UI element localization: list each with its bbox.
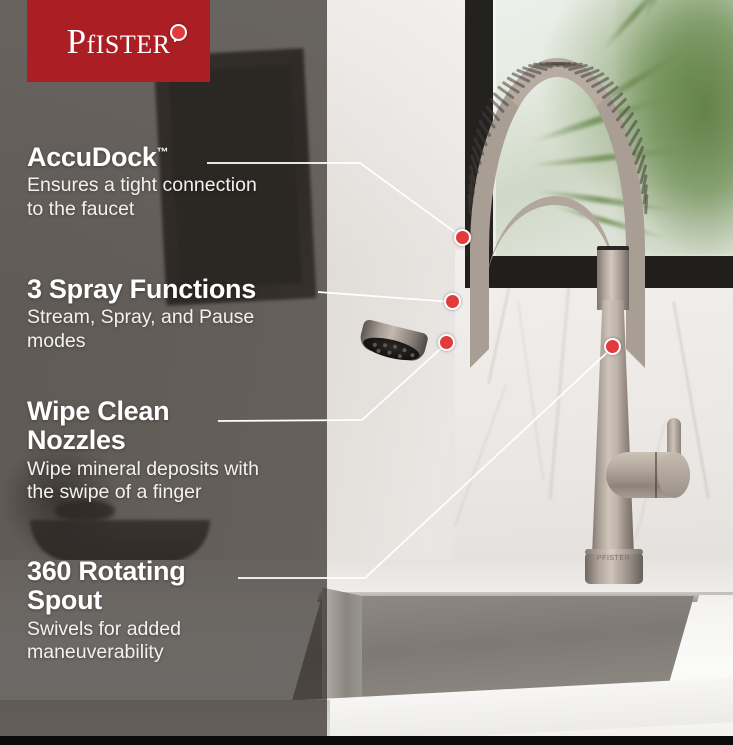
callout-subtitle: Swivels for added maneuverability	[27, 618, 317, 665]
spray-nozzle-hole	[397, 354, 402, 359]
callout-accudock: AccuDock™ Ensures a tight connection to …	[27, 143, 317, 221]
faucet-handle-cap	[658, 452, 690, 498]
bottom-letterbox-bar	[0, 736, 733, 745]
callout-title-text: 3 Spray Functions	[27, 274, 256, 304]
brand-logo-text: PfISTER.	[67, 24, 171, 59]
product-brand-etching: PFISTER	[597, 555, 623, 564]
callout-title: AccuDock™	[27, 143, 317, 172]
spray-nozzle-hole	[393, 344, 398, 349]
spray-nozzle-hole	[383, 343, 388, 348]
callout-title-text: 360 Rotating Spout	[27, 556, 185, 615]
callout-subtitle: Wipe mineral deposits with the swipe of …	[27, 458, 317, 505]
brand-logo: PfISTER.	[27, 0, 210, 82]
logo-letters-ister: ISTER	[96, 30, 171, 59]
logo-letter-p: P	[67, 22, 87, 61]
callout-title: 3 Spray Functions	[27, 275, 317, 304]
spray-nozzle-hole	[387, 350, 392, 355]
logo-letter-f: f	[87, 30, 96, 59]
callout-subtitle: Ensures a tight connection to the faucet	[27, 174, 317, 221]
callout-wipe-clean: Wipe Clean Nozzles Wipe mineral deposits…	[27, 397, 317, 505]
spray-nozzle-hole	[376, 348, 381, 353]
callout-dot-spray-functions[interactable]	[444, 293, 461, 310]
callout-dot-accudock[interactable]	[454, 229, 471, 246]
spray-wand	[359, 142, 473, 357]
spray-wand-body	[368, 144, 465, 350]
callout-title: Wipe Clean Nozzles	[27, 397, 317, 456]
callout-spray-functions: 3 Spray Functions Stream, Spray, and Pau…	[27, 275, 317, 353]
spray-nozzle-hole	[402, 348, 407, 353]
spray-nozzle-hole	[410, 353, 415, 358]
faucet-handle-seam	[655, 452, 657, 498]
callout-rotating-spout: 360 Rotating Spout Swivels for added man…	[27, 557, 317, 665]
coil-ring	[644, 194, 648, 214]
callout-subtitle: Stream, Spray, and Pause modes	[27, 306, 317, 353]
callout-title-text: Wipe Clean Nozzles	[27, 396, 169, 455]
callout-title: 360 Rotating Spout	[27, 557, 317, 616]
product-infographic: PFISTER PfISTER. AccuDock™ Ensure	[0, 0, 733, 745]
trademark-symbol: ™	[157, 145, 169, 159]
spray-nozzle-hole	[372, 342, 377, 347]
callout-title-text: AccuDock	[27, 142, 157, 172]
callout-dot-wipe-clean[interactable]	[438, 334, 455, 351]
callout-dot-rotating-spout[interactable]	[604, 338, 621, 355]
logo-period: .	[170, 24, 187, 41]
